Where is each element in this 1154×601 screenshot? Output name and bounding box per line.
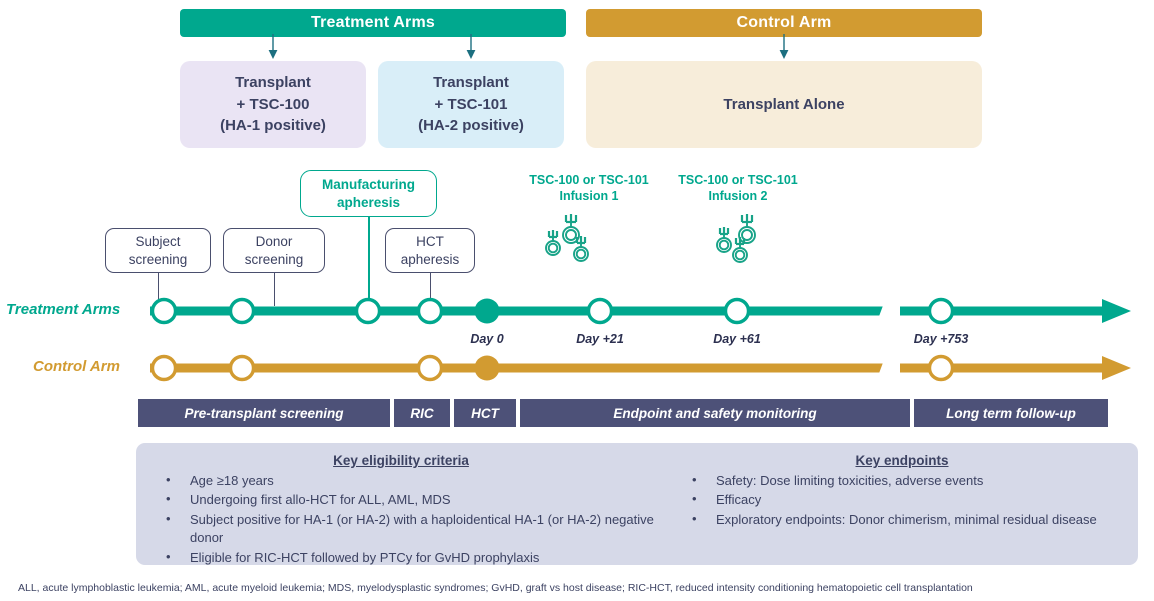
callout-hct-apheresis: HCTapheresis	[385, 228, 475, 273]
infusion-2-group: TSC-100 or TSC-101 Infusion 2	[658, 173, 818, 267]
list-item: Eligible for RIC-HCT followed by PTCy fo…	[144, 549, 658, 567]
endpoints-column: Key endpoints Safety: Dose limiting toxi…	[666, 443, 1138, 565]
eligibility-title: Key eligibility criteria	[144, 453, 658, 468]
list-item: Age ≥18 years	[144, 472, 658, 490]
connector-line	[158, 273, 159, 306]
t-cell-icon-group	[658, 211, 818, 267]
endpoints-title: Key endpoints	[674, 453, 1130, 468]
trial-schema-diagram: Treatment Arms Control Arm Transplant+ T…	[0, 0, 1154, 601]
endpoints-list: Safety: Dose limiting toxicities, advers…	[674, 472, 1130, 529]
eligibility-list: Age ≥18 years Undergoing first allo-HCT …	[144, 472, 658, 567]
arm-box-tsc-100: Transplant+ TSC-100(HA-1 positive)	[180, 61, 366, 148]
infusion-2-product: TSC-100 or TSC-101	[658, 173, 818, 189]
treatment-arms-banner: Treatment Arms	[180, 9, 566, 37]
arm-box-tsc-101: Transplant+ TSC-101(HA-2 positive)	[378, 61, 564, 148]
timeline-label-treatment: Treatment Arms	[6, 301, 120, 318]
connector-line	[430, 273, 431, 306]
list-item: Undergoing first allo-HCT for ALL, AML, …	[144, 491, 658, 509]
info-panel: Key eligibility criteria Age ≥18 years U…	[136, 443, 1138, 565]
list-item: Efficacy	[674, 491, 1130, 509]
infusion-1-group: TSC-100 or TSC-101 Infusion 1	[509, 173, 669, 267]
arrow-down-icon	[464, 34, 478, 60]
connector-line	[274, 273, 275, 306]
phase-long-term-follow-up: Long term follow-up	[914, 399, 1108, 427]
phase-hct: HCT	[454, 399, 516, 427]
list-item: Safety: Dose limiting toxicities, advers…	[674, 472, 1130, 490]
list-item: Subject positive for HA-1 (or HA-2) with…	[144, 511, 658, 548]
abbreviations-footnote: ALL, acute lymphoblastic leukemia; AML, …	[18, 582, 1148, 596]
day-label-61: Day +61	[713, 332, 761, 346]
infusion-1-label: Infusion 1	[509, 189, 669, 205]
callout-manufacturing-apheresis: Manufacturingapheresis	[300, 170, 437, 217]
phase-pre-transplant-screening: Pre-transplant screening	[138, 399, 390, 427]
callout-subject-screening: Subjectscreening	[105, 228, 211, 273]
connector-line	[368, 217, 370, 306]
arrow-down-icon	[266, 34, 280, 60]
callout-donor-screening: Donorscreening	[223, 228, 325, 273]
timeline-label-control: Control Arm	[33, 358, 120, 375]
arrow-down-icon	[777, 34, 791, 60]
day-label-21: Day +21	[576, 332, 624, 346]
eligibility-column: Key eligibility criteria Age ≥18 years U…	[136, 443, 666, 565]
control-arm-banner: Control Arm	[586, 9, 982, 37]
day-label-753: Day +753	[914, 332, 969, 346]
infusion-2-label: Infusion 2	[658, 189, 818, 205]
phase-endpoint-safety-monitoring: Endpoint and safety monitoring	[520, 399, 910, 427]
phase-ric: RIC	[394, 399, 450, 427]
study-phase-bar: Pre-transplant screening RIC HCT Endpoin…	[138, 399, 1108, 427]
list-item: Exploratory endpoints: Donor chimerism, …	[674, 511, 1130, 529]
day-label-0: Day 0	[470, 332, 503, 346]
arm-box-control: Transplant Alone	[586, 61, 982, 148]
t-cell-icon-group	[509, 211, 669, 267]
infusion-1-product: TSC-100 or TSC-101	[509, 173, 669, 189]
